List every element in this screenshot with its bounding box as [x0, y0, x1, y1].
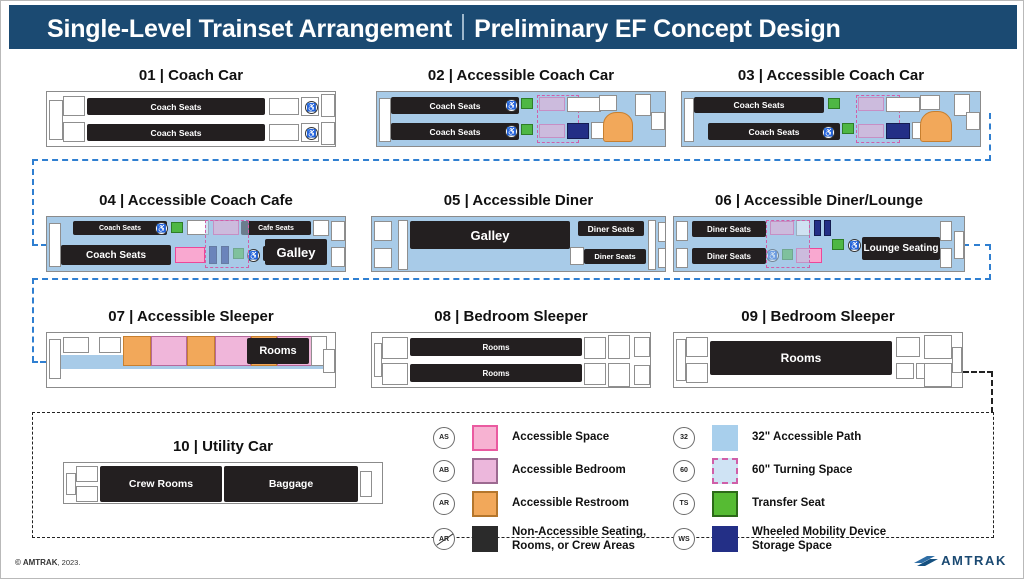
connector-row1-right [989, 113, 991, 161]
legend-label-transfer-seat: Transfer Seat [752, 496, 825, 510]
car-02-section-1: Coach Seats [391, 97, 519, 114]
accessible-bedroom-07b [215, 336, 251, 366]
connector-row1-to-row2 [32, 159, 991, 161]
car-04-section-1: Coach Seats [73, 221, 167, 235]
car-08-title: 08 | Bedroom Sleeper [371, 308, 651, 325]
car-06-title: 06 | Accessible Diner/Lounge [673, 192, 965, 209]
car-06-body: Diner Seats Diner Seats ♿ ♿ Lounge Seati… [673, 216, 965, 272]
slide-canvas: Single-Level Trainset Arrangement Prelim… [0, 0, 1024, 579]
accessible-restroom-03 [920, 111, 952, 142]
accessible-restroom-07b [187, 336, 215, 366]
accessible-restroom-07a [123, 336, 151, 366]
car-02-body: Coach Seats Coach Seats ♿ ♿ [376, 91, 666, 147]
swatch-accessible-space [472, 425, 498, 451]
car-05-section-2: Diner Seats [578, 221, 644, 236]
badge-ts-icon: TS [673, 493, 695, 515]
legend-item-accessible-bedroom: AB Accessible Bedroom [433, 454, 646, 487]
turning-space-06 [766, 220, 810, 268]
legend-label-accessible-path: 32" Accessible Path [752, 430, 861, 444]
legend-label-accessible-restroom: Accessible Restroom [512, 496, 629, 510]
car-07-body: Rooms ♿ ♿ ♿ ♿ ♿ ♿ [46, 332, 336, 388]
mobility-storage-03 [886, 123, 910, 139]
connector-row3-right [963, 371, 993, 373]
amtrak-wordmark: AMTRAK [941, 553, 1007, 568]
car-10-title: 10 | Utility Car [63, 438, 383, 455]
car-06[interactable]: 06 | Accessible Diner/Lounge Diner Seats… [673, 192, 965, 272]
car-05-title: 05 | Accessible Diner [371, 192, 666, 209]
transfer-seat-06b [832, 239, 844, 250]
car-10-section-1: Crew Rooms [100, 466, 222, 502]
car-07-title: 07 | Accessible Sleeper [46, 308, 336, 325]
legend-label-accessible-bedroom: Accessible Bedroom [512, 463, 626, 477]
car-09-title: 09 | Bedroom Sleeper [673, 308, 963, 325]
car-08-body: Rooms Rooms [371, 332, 651, 388]
legend-label-mobility-storage: Wheeled Mobility Device Storage Space [752, 525, 886, 553]
transfer-seat-04a [171, 222, 183, 233]
legend-label-non-accessible: Non-Accessible Seating, Rooms, or Crew A… [512, 525, 646, 553]
car-03-section-1: Coach Seats [694, 97, 824, 113]
car-10-section-2: Baggage [224, 466, 358, 502]
car-01-section-1: Coach Seats [87, 98, 265, 115]
car-06-section-1: Diner Seats [692, 221, 766, 237]
connector-row2-left [32, 159, 34, 245]
copyright-year: , 2023. [57, 558, 80, 567]
swatch-accessible-restroom [472, 491, 498, 517]
car-07[interactable]: 07 | Accessible Sleeper Rooms [46, 308, 336, 388]
legend-panel: 10 | Utility Car Crew Rooms Baggage AS A… [32, 412, 994, 538]
badge-ab-icon: AB [433, 460, 455, 482]
car-04-section-5: Galley [265, 239, 327, 265]
car-08-section-1: Rooms [410, 338, 582, 356]
car-01-title: 01 | Coach Car [46, 67, 336, 84]
car-04-title: 04 | Accessible Coach Cafe [46, 192, 346, 209]
car-04-section-2: Cafe Seats [241, 221, 311, 235]
swatch-accessible-bedroom [472, 458, 498, 484]
car-01-body: Coach Seats Coach Seats ♿ ♿ [46, 91, 336, 147]
badge-ar-icon: AR [433, 493, 455, 515]
car-08-section-2: Rooms [410, 364, 582, 382]
accessible-bedroom-07a [151, 336, 187, 366]
connector-row2-right [963, 244, 991, 246]
connector-row3-right-down [991, 371, 993, 413]
transfer-seat-03a [828, 98, 840, 109]
car-03-section-2: Coach Seats [708, 123, 840, 140]
swatch-turning-space [712, 458, 738, 484]
swatch-non-accessible [472, 526, 498, 552]
car-02[interactable]: 02 | Accessible Coach Car Coach Seats Co… [376, 67, 666, 147]
car-09-section-1: Rooms [710, 341, 892, 375]
car-03-title: 03 | Accessible Coach Car [681, 67, 981, 84]
car-04-body: Coach Seats ♿ Cafe Seats Coach Seats ♿ C… [46, 216, 346, 272]
amtrak-swoosh-icon [913, 554, 939, 567]
car-06-section-3: Lounge Seating [862, 237, 940, 260]
legend-item-non-accessible: AR Non-Accessible Seating, Rooms, or Cre… [433, 520, 646, 558]
accessible-restroom-02 [603, 112, 633, 142]
page-title: Single-Level Trainset Arrangement [47, 15, 452, 44]
badge-ws-icon: WS [673, 528, 695, 550]
transfer-seat-03b [842, 123, 854, 134]
legend-item-accessible-space: AS Accessible Space [433, 421, 646, 454]
transfer-seat-02a [521, 98, 533, 109]
mobility-storage-02 [567, 123, 589, 139]
legend-item-transfer-seat: TS Transfer Seat [673, 487, 886, 520]
car-05-section-1: Galley [410, 221, 570, 249]
car-04-section-3: Coach Seats [61, 245, 171, 265]
legend-item-turning-space: 60 60" Turning Space [673, 454, 886, 487]
legend-column-right: 32 32" Accessible Path 60 60" Turning Sp… [673, 421, 886, 558]
car-02-section-2: Coach Seats [391, 123, 519, 140]
legend-item-accessible-restroom: AR Accessible Restroom [433, 487, 646, 520]
amtrak-logo: AMTRAK [913, 553, 1007, 568]
mobility-storage-06a [814, 220, 821, 236]
car-05-body: Galley Diner Seats Diner Seats [371, 216, 666, 272]
title-separator [462, 14, 464, 40]
badge-as-icon: AS [433, 427, 455, 449]
car-10[interactable]: 10 | Utility Car Crew Rooms Baggage [63, 438, 383, 504]
legend-label-turning-space: 60" Turning Space [752, 463, 852, 477]
car-09[interactable]: 09 | Bedroom Sleeper Rooms [673, 308, 963, 388]
car-08[interactable]: 08 | Bedroom Sleeper Rooms Rooms [371, 308, 651, 388]
accessible-space-04b [175, 247, 205, 263]
connector-row3-left [32, 278, 34, 362]
car-05[interactable]: 05 | Accessible Diner Galley Diner Seats… [371, 192, 666, 272]
legend-item-accessible-path: 32 32" Accessible Path [673, 421, 886, 454]
copyright-notice: © AMTRAK, 2023. [15, 558, 80, 567]
slide-title-bar: Single-Level Trainset Arrangement Prelim… [9, 5, 1017, 49]
badge-non-accessible-icon: AR [433, 528, 455, 550]
mobility-storage-06b [824, 220, 831, 236]
swatch-mobility-storage [712, 526, 738, 552]
car-03-body: Coach Seats Coach Seats ♿ ♿ [681, 91, 981, 147]
car-05-section-3: Diner Seats [584, 249, 646, 264]
turning-space-04 [205, 220, 249, 268]
connector-row2-to-row3 [32, 278, 991, 280]
connector-row2-right-down [989, 244, 991, 280]
legend-label-accessible-space: Accessible Space [512, 430, 609, 444]
car-01[interactable]: 01 | Coach Car Coach Seats Coach Seats [46, 67, 336, 147]
swatch-transfer-seat [712, 491, 738, 517]
car-02-title: 02 | Accessible Coach Car [376, 67, 666, 84]
legend-column-left: AS Accessible Space AB Accessible Bedroo… [433, 421, 646, 558]
car-03[interactable]: 03 | Accessible Coach Car Coach Seats Co… [681, 67, 981, 147]
car-01-section-2: Coach Seats [87, 124, 265, 141]
car-09-body: Rooms [673, 332, 963, 388]
car-04[interactable]: 04 | Accessible Coach Cafe Coach Seats ♿… [46, 192, 346, 272]
page-subtitle: Preliminary EF Concept Design [474, 15, 841, 44]
badge-60-icon: 60 [673, 460, 695, 482]
car-06-section-2: Diner Seats [692, 248, 766, 264]
legend-item-mobility-storage: WS Wheeled Mobility Device Storage Space [673, 520, 886, 558]
transfer-seat-02b [521, 124, 533, 135]
badge-32-icon: 32 [673, 427, 695, 449]
car-10-body: Crew Rooms Baggage [63, 462, 383, 504]
swatch-accessible-path [712, 425, 738, 451]
copyright-mark: © AMTRAK [15, 558, 57, 567]
car-07-section-1: Rooms [247, 338, 309, 364]
